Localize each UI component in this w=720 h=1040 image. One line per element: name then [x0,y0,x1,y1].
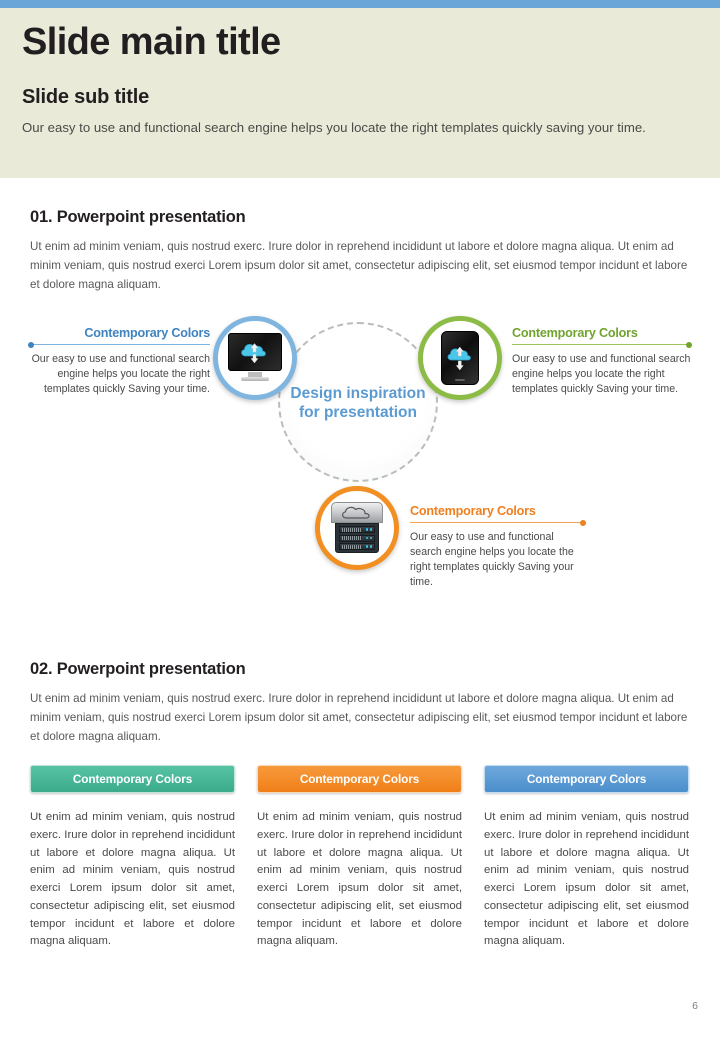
callout-bottom-dot [580,520,586,526]
cloud-server-icon [328,499,386,557]
page-number: 6 [692,1000,698,1012]
callout-left-dot [28,342,34,348]
section-02-description: Ut enim ad minim veniam, quis nostrud ex… [30,690,690,746]
monitor-cloud-sync-icon [226,329,284,387]
callout-bottom-body: Our easy to use and functional search en… [410,530,586,590]
column-3: Contemporary Colors Ut enim ad minim ven… [484,765,689,951]
column-2: Contemporary Colors Ut enim ad minim ven… [257,765,462,951]
callout-right-body: Our easy to use and functional search en… [512,352,692,397]
callout-right-label: Contemporary Colors [512,326,692,340]
section-02-title: 02. Powerpoint presentation [30,660,690,679]
section-02: 02. Powerpoint presentation Ut enim ad m… [30,660,690,746]
diagram-node-left[interactable] [213,316,297,400]
column-2-header[interactable]: Contemporary Colors [257,765,462,793]
column-1: Contemporary Colors Ut enim ad minim ven… [30,765,235,951]
callout-bottom-connector [410,522,586,523]
callout-left-connector [28,344,210,345]
column-2-body: Ut enim ad minim veniam, quis nostrud ex… [257,809,462,951]
header-description: Our easy to use and functional search en… [22,118,682,138]
callout-bottom-label: Contemporary Colors [410,504,586,518]
section-01-title: 01. Powerpoint presentation [30,208,690,227]
column-3-body: Ut enim ad minim veniam, quis nostrud ex… [484,809,689,951]
callout-left: Contemporary Colors Our easy to use and … [28,326,210,397]
section-01: 01. Powerpoint presentation Ut enim ad m… [30,208,690,294]
page-title: Slide main title [22,22,692,64]
page-subtitle: Slide sub title [22,86,692,109]
callout-left-body: Our easy to use and functional search en… [28,352,210,397]
callout-right: Contemporary Colors Our easy to use and … [512,326,692,397]
callout-right-connector [512,344,692,345]
diagram-node-right[interactable] [418,316,502,400]
column-1-header[interactable]: Contemporary Colors [30,765,235,793]
slide-header: Slide main title Slide sub title Our eas… [0,8,720,178]
callout-bottom: Contemporary Colors Our easy to use and … [410,504,586,590]
diagram-center-label: Design inspiration for presentation [286,385,430,423]
column-3-header[interactable]: Contemporary Colors [484,765,689,793]
callout-right-dot [686,342,692,348]
callout-left-label: Contemporary Colors [28,326,210,340]
top-accent-bar [0,0,720,8]
slide: Slide main title Slide sub title Our eas… [0,0,720,1040]
tablet-cloud-sync-icon [431,329,489,387]
column-1-body: Ut enim ad minim veniam, quis nostrud ex… [30,809,235,951]
feature-columns: Contemporary Colors Ut enim ad minim ven… [30,765,690,951]
section-01-description: Ut enim ad minim veniam, quis nostrud ex… [30,238,690,294]
diagram-node-bottom[interactable] [315,486,399,570]
